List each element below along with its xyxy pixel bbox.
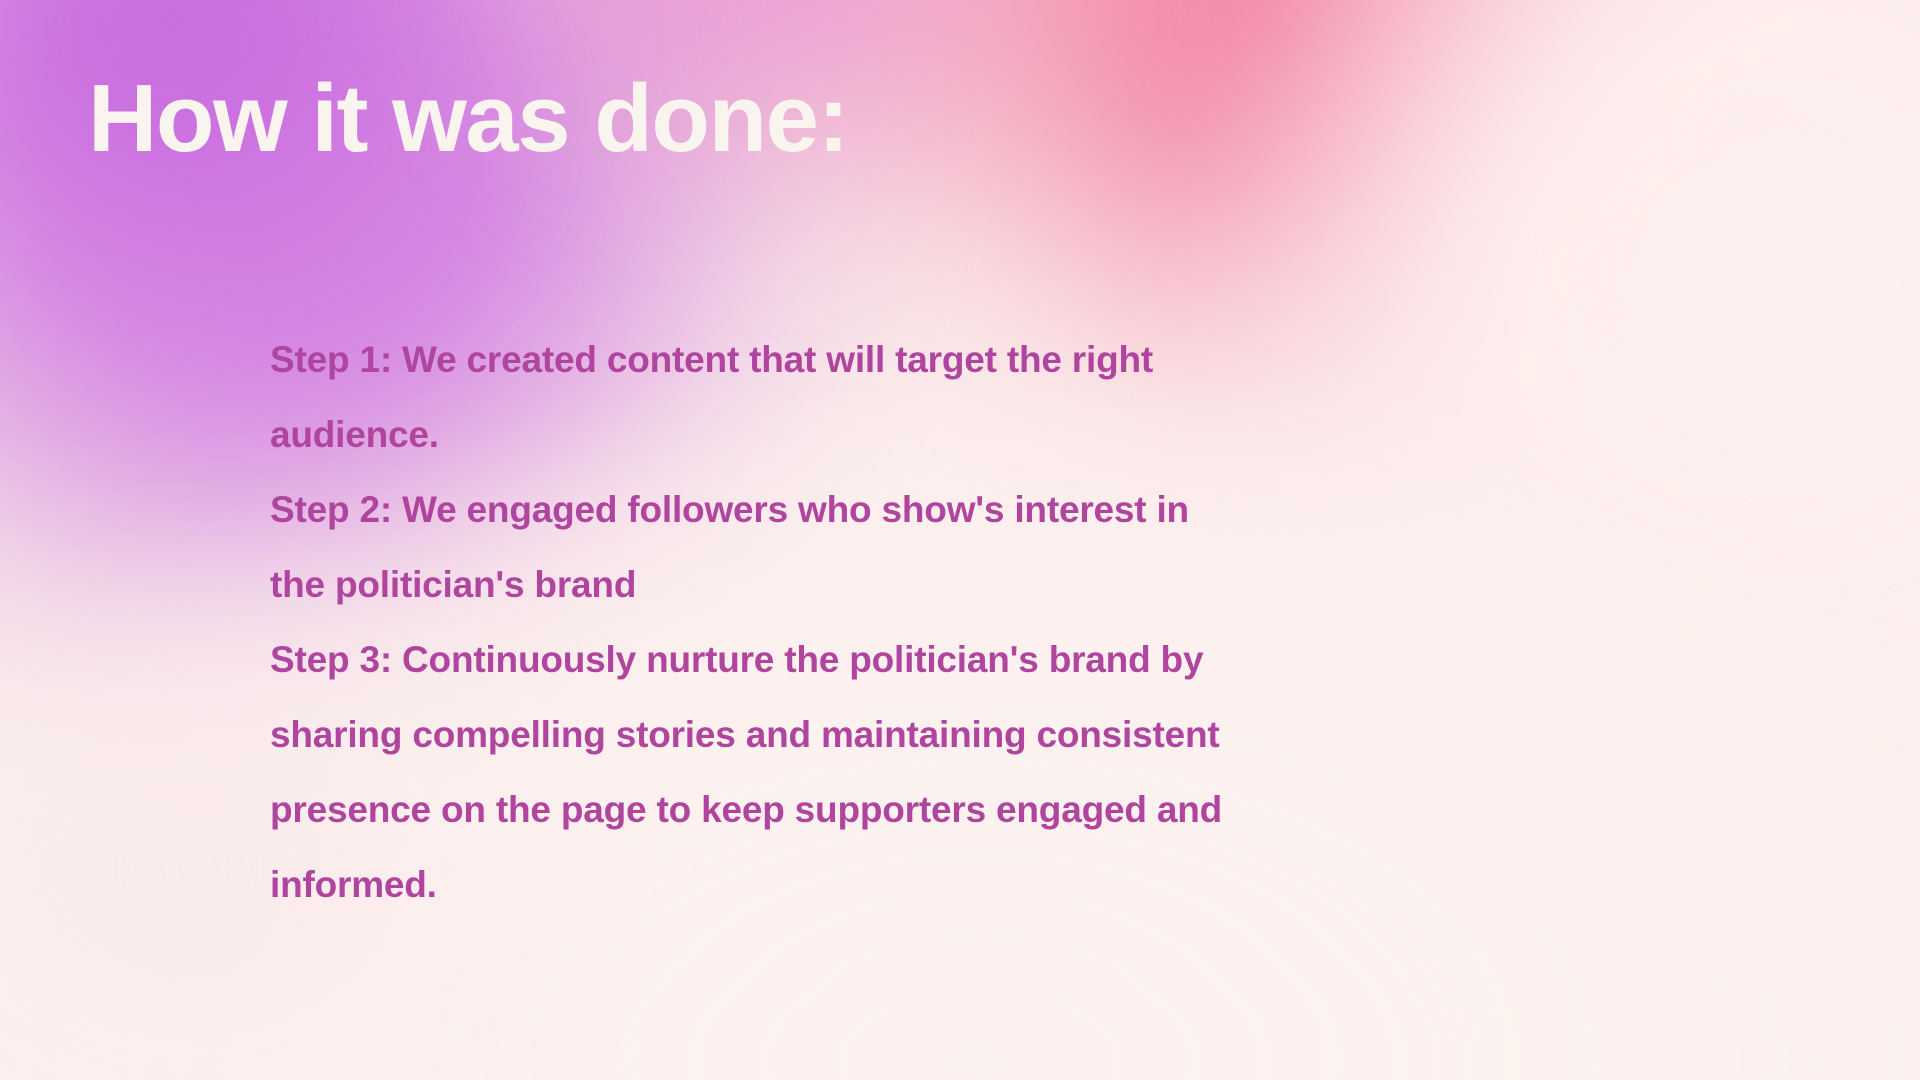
body-line: Step 3: Continuously nurture the politic… — [270, 622, 1290, 697]
body-line: the politician's brand — [270, 547, 1290, 622]
body-line: Step 2: We engaged followers who show's … — [270, 472, 1290, 547]
body-line: audience. — [270, 397, 1290, 472]
body-line: sharing compelling stories and maintaini… — [270, 697, 1290, 772]
slide-content: How it was done: Step 1: We created cont… — [0, 0, 1920, 1080]
body-line: Step 1: We created content that will tar… — [270, 322, 1290, 397]
body-line: informed. — [270, 847, 1290, 922]
presentation-slide: How it was done: Step 1: We created cont… — [0, 0, 1920, 1080]
body-line: presence on the page to keep supporters … — [270, 772, 1290, 847]
steps-text-block: Step 1: We created content that will tar… — [270, 322, 1290, 922]
slide-title: How it was done: — [88, 69, 848, 170]
